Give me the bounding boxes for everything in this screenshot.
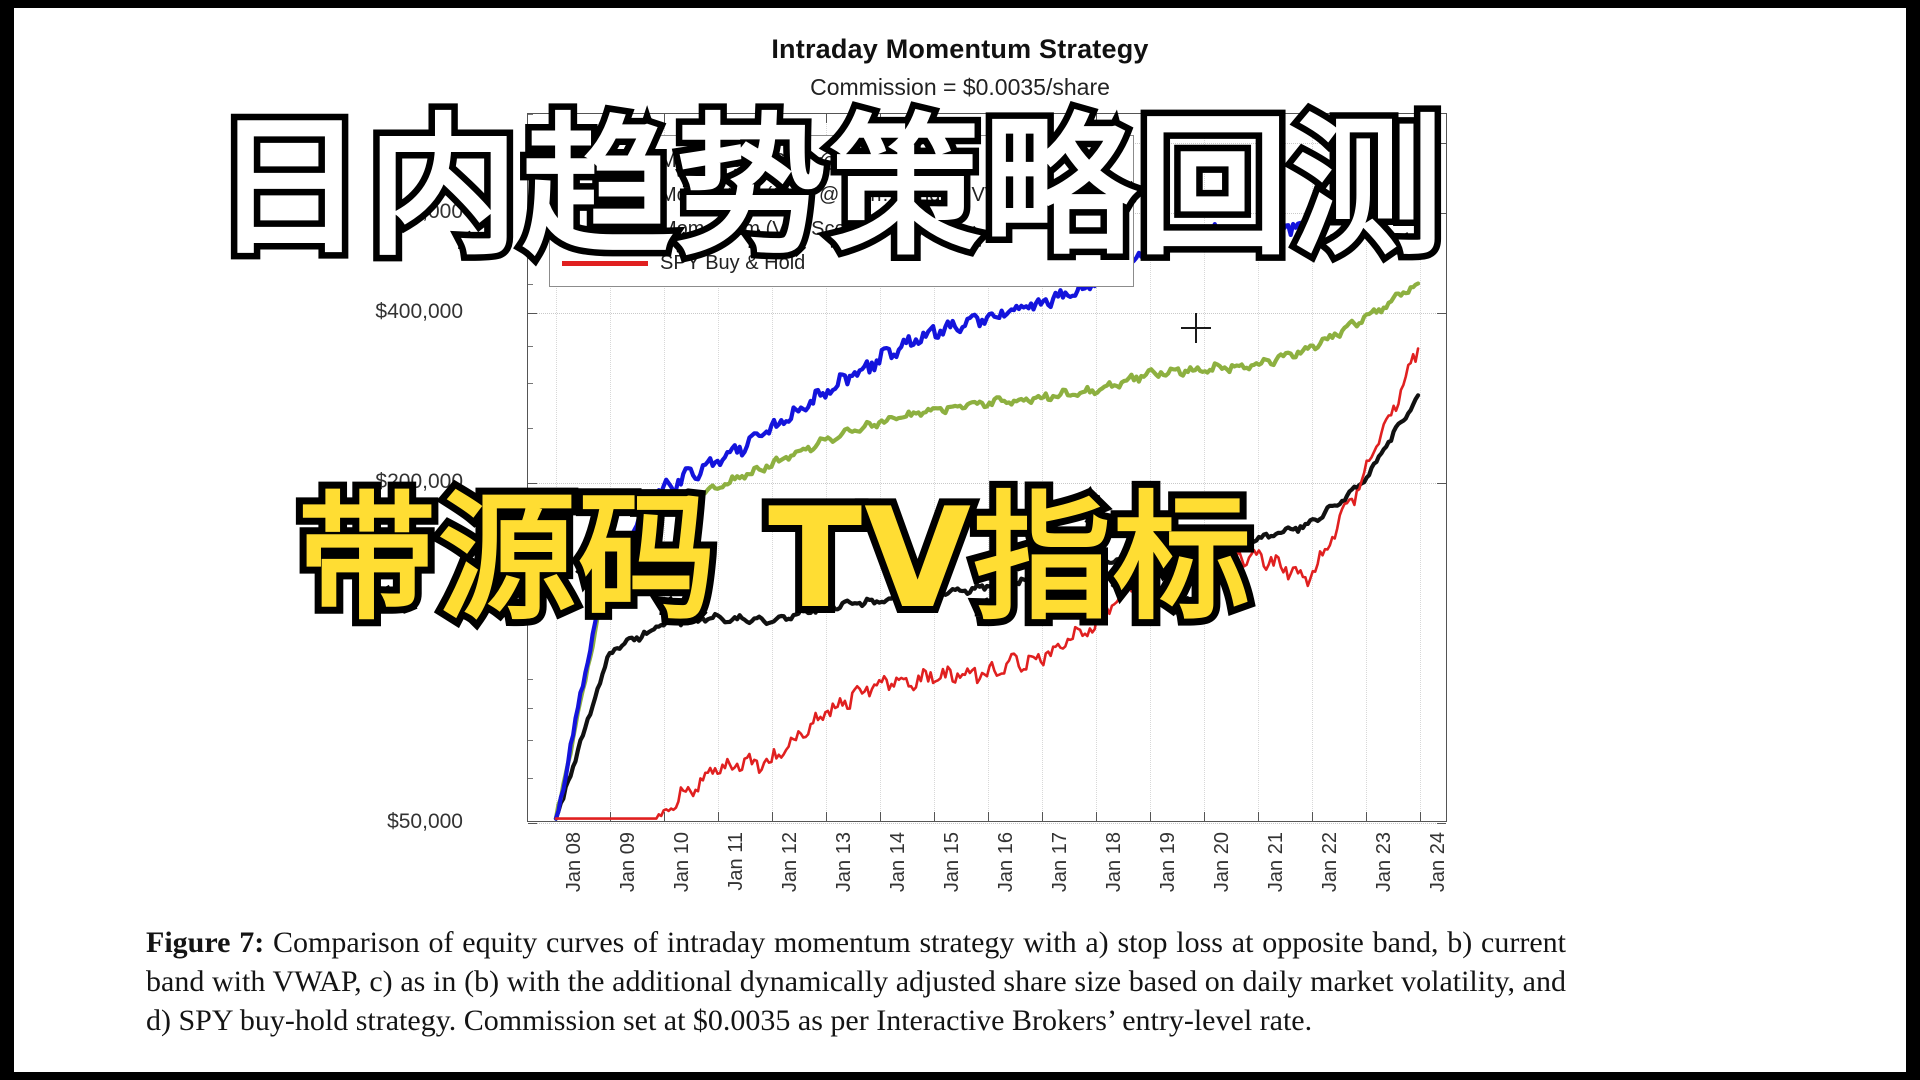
x-tick-label: Jan 22 bbox=[1319, 832, 1342, 892]
legend-item: Momentum (Stop @ Curr. Band w/ VWAP) bbox=[562, 178, 1121, 212]
legend-item: Momentum (Stop @ Opp. Band) bbox=[562, 144, 1121, 178]
crosshair-cursor bbox=[1181, 313, 1211, 343]
figure-caption-label: Figure 7: bbox=[146, 926, 264, 959]
figure-caption: Figure 7: Comparison of equity curves of… bbox=[146, 923, 1566, 1040]
series-line bbox=[556, 395, 1418, 818]
y-tick bbox=[1437, 823, 1446, 824]
legend-color-swatch bbox=[562, 261, 648, 266]
series-line bbox=[556, 284, 1418, 819]
x-tick-label: Jan 21 bbox=[1265, 832, 1288, 892]
plot-axes: Momentum (Stop @ Opp. Band)Momentum (Sto… bbox=[527, 113, 1447, 822]
x-tick-label: Jan 24 bbox=[1427, 832, 1450, 892]
x-tick-label: Jan 08 bbox=[563, 832, 586, 892]
x-tick-label: Jan 18 bbox=[1103, 832, 1126, 892]
legend-label: Momentum (Stop @ Opp. Band) bbox=[660, 150, 947, 173]
y-tick bbox=[528, 823, 537, 824]
y-tick-label: $600,000 bbox=[303, 200, 463, 224]
legend-color-swatch bbox=[562, 159, 648, 164]
x-tick-label: Jan 17 bbox=[1049, 832, 1072, 892]
x-tick-label: Jan 14 bbox=[887, 832, 910, 892]
legend-color-swatch bbox=[562, 193, 648, 198]
chart-legend: Momentum (Stop @ Opp. Band)Momentum (Sto… bbox=[549, 135, 1134, 287]
legend-label: Momentum (Stop @ Curr. Band w/ VWAP) bbox=[660, 184, 1036, 207]
y-tick-label: $800,000 bbox=[303, 130, 463, 154]
x-tick-label: Jan 10 bbox=[671, 832, 694, 892]
y-tick-label: $400,000 bbox=[303, 300, 463, 324]
legend-color-swatch bbox=[562, 227, 648, 232]
chart-title: Intraday Momentum Strategy bbox=[14, 34, 1906, 65]
legend-item: SPY Buy & Hold bbox=[562, 246, 1121, 280]
video-frame: Intraday Momentum Strategy Commission = … bbox=[0, 0, 1920, 1080]
series-line bbox=[556, 349, 1418, 819]
x-tick-label: Jan 20 bbox=[1211, 832, 1234, 892]
figure-chart-area: Intraday Momentum Strategy Commission = … bbox=[14, 8, 1906, 913]
x-tick-label: Jan 09 bbox=[617, 832, 640, 892]
y-tick-label: $200,000 bbox=[303, 470, 463, 494]
legend-item: Momentum (Vol. Scaled Size) bbox=[562, 212, 1121, 246]
chart-subtitle: Commission = $0.0035/share bbox=[14, 74, 1906, 101]
x-tick-label: Jan 11 bbox=[725, 832, 748, 891]
x-tick-label: Jan 16 bbox=[995, 832, 1018, 892]
x-tick-label: Jan 23 bbox=[1373, 832, 1396, 892]
y-tick-label: $50,000 bbox=[303, 810, 463, 834]
x-tick-label: Jan 19 bbox=[1157, 832, 1180, 892]
figure-caption-text: Comparison of equity curves of intraday … bbox=[146, 926, 1566, 1037]
x-tick-label: Jan 15 bbox=[941, 832, 964, 892]
x-tick-label: Jan 12 bbox=[779, 832, 802, 892]
legend-label: Momentum (Vol. Scaled Size) bbox=[660, 218, 923, 241]
grid-line bbox=[528, 823, 1446, 824]
document-page: Intraday Momentum Strategy Commission = … bbox=[14, 8, 1906, 1072]
x-tick-label: Jan 13 bbox=[833, 832, 856, 892]
legend-label: SPY Buy & Hold bbox=[660, 252, 805, 275]
